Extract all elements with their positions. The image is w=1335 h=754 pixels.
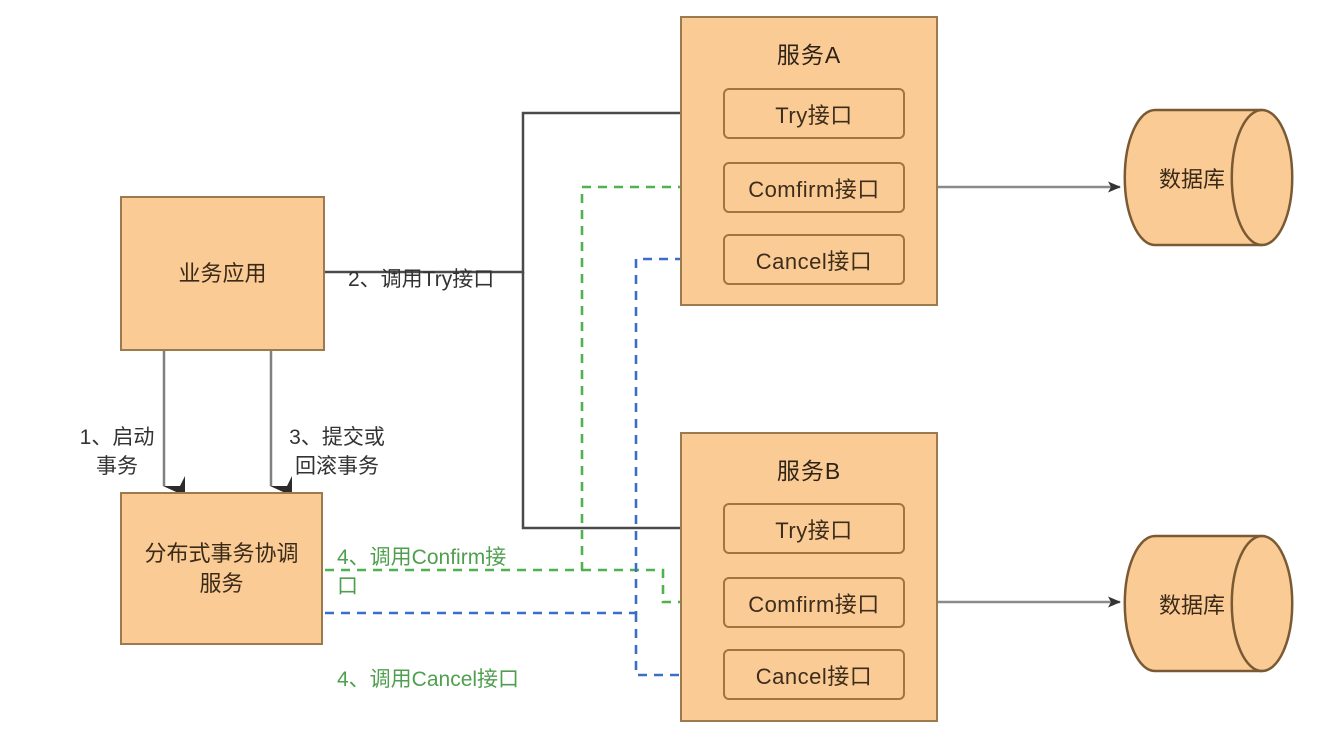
edge-label-call-confirm-text: 4、调用Confirm接 口 bbox=[337, 546, 506, 597]
node-database-b-label: 数据库 bbox=[1128, 588, 1290, 620]
node-database-a-label: 数据库 bbox=[1128, 162, 1290, 194]
service-a-try-interface-label: Try接口 bbox=[775, 98, 852, 130]
service-a-cancel-interface[interactable]: Cancel接口 bbox=[723, 234, 905, 285]
node-database-b[interactable]: 数据库 bbox=[1128, 536, 1290, 671]
edge-label-start-transaction-text: 1、启动 事务 bbox=[80, 426, 155, 477]
edge-label-call-try: 2、调用Try接口 bbox=[348, 238, 494, 295]
edge-label-call-try-text: 2、调用Try接口 bbox=[348, 268, 494, 291]
service-a-try-interface[interactable]: Try接口 bbox=[723, 88, 905, 139]
node-transaction-coordinator-label: 分布式事务协调 服务 bbox=[144, 539, 298, 598]
node-business-application-label: 业务应用 bbox=[178, 259, 266, 289]
node-service-b-title: 服务B bbox=[777, 452, 841, 486]
diagram-canvas: 业务应用 分布式事务协调 服务 服务A Try接口 Comfirm接口 Canc… bbox=[0, 0, 1335, 754]
service-a-confirm-interface[interactable]: Comfirm接口 bbox=[723, 162, 905, 213]
node-service-a-title: 服务A bbox=[777, 36, 841, 70]
edge-label-commit-rollback: 3、提交或 回滚事务 bbox=[272, 396, 402, 481]
service-b-cancel-interface[interactable]: Cancel接口 bbox=[723, 649, 905, 700]
edge-label-call-cancel-text: 4、调用Cancel接口 bbox=[337, 668, 519, 691]
edge-label-start-transaction: 1、启动 事务 bbox=[62, 396, 172, 481]
service-a-cancel-interface-label: Cancel接口 bbox=[756, 244, 872, 276]
service-b-confirm-interface-label: Comfirm接口 bbox=[748, 587, 880, 619]
edge-label-commit-rollback-text: 3、提交或 回滚事务 bbox=[289, 426, 385, 477]
node-database-a[interactable]: 数据库 bbox=[1128, 110, 1290, 245]
node-transaction-coordinator[interactable]: 分布式事务协调 服务 bbox=[120, 492, 323, 645]
node-business-application[interactable]: 业务应用 bbox=[120, 196, 325, 351]
service-b-cancel-interface-label: Cancel接口 bbox=[756, 659, 872, 691]
edge-label-call-confirm: 4、调用Confirm接 口 bbox=[337, 516, 537, 601]
service-b-confirm-interface[interactable]: Comfirm接口 bbox=[723, 577, 905, 628]
service-a-confirm-interface-label: Comfirm接口 bbox=[748, 172, 880, 204]
edge-label-call-cancel: 4、调用Cancel接口 bbox=[337, 638, 519, 695]
service-b-try-interface[interactable]: Try接口 bbox=[723, 503, 905, 554]
service-b-try-interface-label: Try接口 bbox=[775, 513, 852, 545]
